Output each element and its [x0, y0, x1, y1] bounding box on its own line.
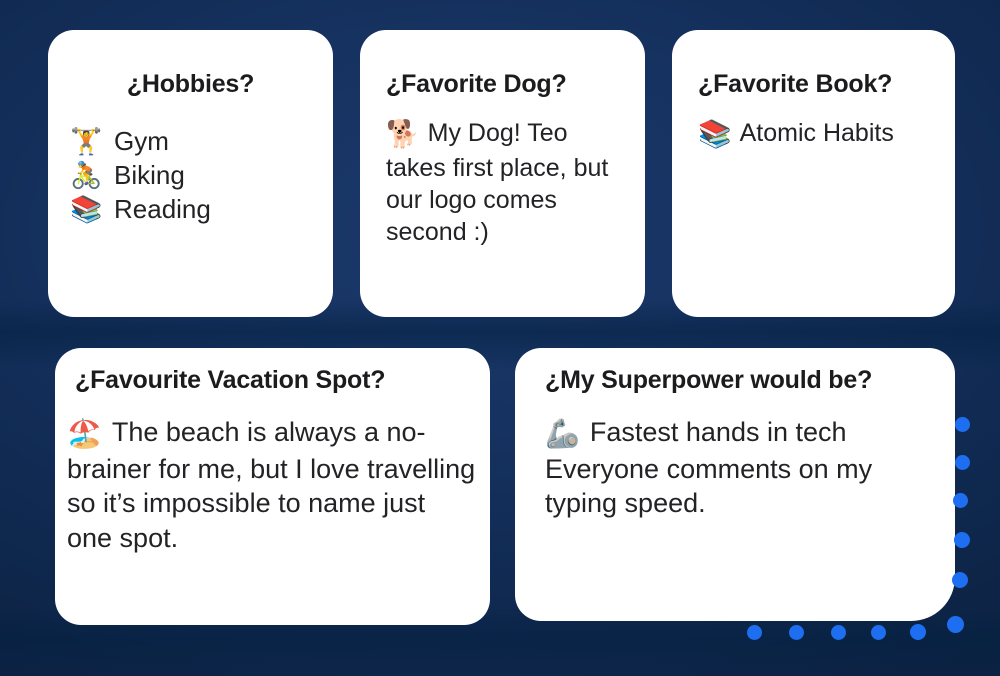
list-item-label: Reading — [114, 194, 211, 225]
list-item: 🏋️ Gym — [70, 125, 333, 159]
books-icon: 📚 — [698, 118, 732, 153]
decorative-dot — [747, 625, 762, 640]
mechanical-arm-icon: 🦾 — [545, 416, 580, 452]
decorative-dot — [955, 455, 970, 470]
card-favorite-book-body: 📚Atomic Habits — [672, 99, 955, 153]
dog-icon: 🐕 — [386, 118, 420, 153]
decorative-dot — [831, 625, 846, 640]
decorative-dot — [954, 532, 970, 548]
decorative-dot — [952, 572, 968, 588]
decorative-dot — [871, 625, 886, 640]
card-favorite-book-text: Atomic Habits — [740, 119, 894, 147]
card-vacation-spot-title: ¿Favourite Vacation Spot? — [55, 348, 490, 395]
list-item: 📚 Reading — [70, 193, 333, 227]
weightlifter-icon: 🏋️ — [70, 127, 100, 157]
card-vacation-spot[interactable]: ¿Favourite Vacation Spot? 🏖️The beach is… — [55, 348, 490, 625]
card-hobbies-title: ¿Hobbies? — [48, 70, 333, 99]
list-item-label: Biking — [114, 160, 185, 191]
card-vacation-spot-text: The beach is always a no-brainer for me,… — [67, 417, 475, 553]
card-superpower-title: ¿My Superpower would be? — [515, 348, 955, 395]
beach-umbrella-icon: 🏖️ — [67, 416, 102, 452]
decorative-dot — [789, 625, 804, 640]
books-icon: 📚 — [70, 195, 100, 225]
cyclist-icon: 🚴 — [70, 161, 100, 191]
card-superpower[interactable]: ¿My Superpower would be? 🦾Fastest hands … — [515, 348, 955, 621]
decorative-dot — [947, 616, 964, 633]
hobbies-list: 🏋️ Gym 🚴 Biking 📚 Reading — [48, 125, 333, 227]
card-superpower-text: Fastest hands in tech Everyone comments … — [545, 417, 872, 518]
decorative-dot — [953, 493, 968, 508]
decorative-dot — [955, 417, 970, 432]
card-favorite-dog-title: ¿Favorite Dog? — [360, 70, 645, 99]
card-hobbies[interactable]: ¿Hobbies? 🏋️ Gym 🚴 Biking 📚 Reading — [48, 30, 333, 317]
card-superpower-body: 🦾Fastest hands in tech Everyone comments… — [515, 395, 955, 521]
slide-canvas: ¿Hobbies? 🏋️ Gym 🚴 Biking 📚 Reading ¿Fav… — [0, 0, 1000, 676]
card-favorite-dog[interactable]: ¿Favorite Dog? 🐕My Dog! Teo takes first … — [360, 30, 645, 317]
list-item: 🚴 Biking — [70, 159, 333, 193]
card-favorite-book[interactable]: ¿Favorite Book? 📚Atomic Habits — [672, 30, 955, 317]
list-item-label: Gym — [114, 126, 169, 157]
decorative-dot — [910, 624, 926, 640]
card-favorite-book-title: ¿Favorite Book? — [672, 70, 955, 99]
card-favorite-dog-body: 🐕My Dog! Teo takes first place, but our … — [360, 99, 645, 249]
card-vacation-spot-body: 🏖️The beach is always a no-brainer for m… — [55, 395, 490, 555]
